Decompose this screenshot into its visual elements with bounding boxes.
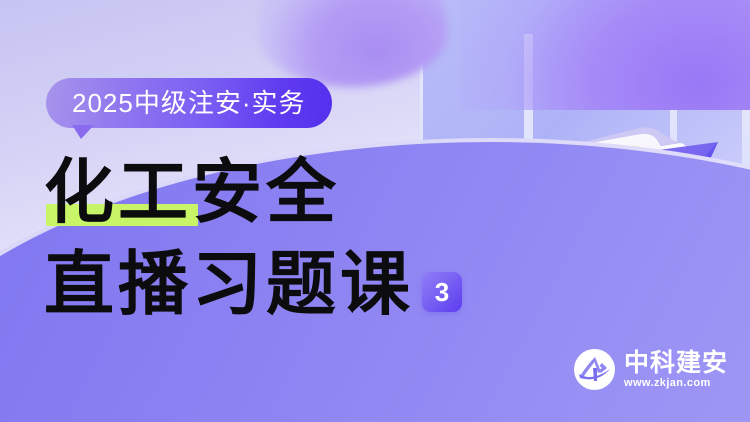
headline-line2: 直播习题课 <box>44 242 414 326</box>
brand-logo-text: 中科建安 www.zkjan.com <box>624 349 728 390</box>
headline-line1-row: 化工安全 <box>44 150 474 234</box>
course-tag: 2025中级注安·实务 <box>46 78 332 128</box>
headline-line1: 化工安全 <box>44 150 474 234</box>
zkjan-circle-icon <box>574 349 615 390</box>
course-tag-pill: 2025中级注安·实务 <box>46 78 332 128</box>
course-tag-label: 2025中级注安·实务 <box>72 90 306 116</box>
brand-logo: 中科建安 www.zkjan.com <box>574 349 728 390</box>
brand-name: 中科建安 <box>624 349 728 376</box>
headline-block: 化工安全 直播习题课 3 <box>44 150 474 326</box>
course-promo-banner: 2025中级注安·实务 化工安全 直播习题课 3 中科建安 www.zkjan <box>0 0 750 422</box>
brand-url: www.zkjan.com <box>624 376 728 390</box>
episode-badge: 3 <box>422 272 462 312</box>
course-tag-tail <box>72 125 94 139</box>
headline-line2-row: 直播习题课 3 <box>44 238 474 326</box>
